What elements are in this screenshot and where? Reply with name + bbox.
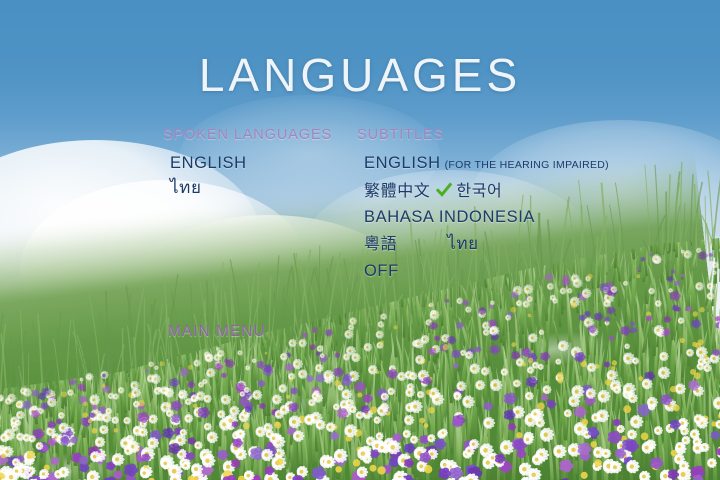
main-menu-button[interactable]: MAIN MENU	[168, 323, 266, 341]
spoken-option-label: ไทย	[163, 178, 202, 198]
subtitle-option-english-hearing-impaired[interactable]: ENGLISH(FOR THE HEARING IMPAIRED)	[357, 155, 609, 182]
spoken-option-thai[interactable]: ไทย	[163, 180, 332, 205]
subtitle-option-label: OFF	[357, 262, 399, 280]
subtitle-option-label: 粵語	[357, 234, 397, 253]
subtitles-heading: SUBTITLES	[357, 127, 609, 143]
check-icon	[436, 182, 452, 203]
spoken-languages-heading: SPOKEN LANGUAGES	[163, 127, 332, 143]
subtitle-option-cantonese-thai[interactable]: 粵語ไทย	[357, 236, 609, 263]
spoken-option-label: ENGLISH	[163, 154, 247, 172]
subtitle-option-hint: (FOR THE HEARING IMPAIRED)	[445, 159, 609, 171]
subtitle-option-label: ENGLISH	[357, 154, 441, 172]
spoken-option-english[interactable]: ENGLISH	[163, 155, 332, 180]
subtitle-option-label: 繁體中文	[357, 181, 430, 200]
subtitle-option-label: BAHASA INDONESIA	[357, 208, 535, 226]
dvd-language-menu-screen: LANGUAGES SPOKEN LANGUAGES ENGLISH ไทย S…	[0, 0, 720, 480]
page-title: LANGUAGES	[0, 48, 720, 102]
subtitle-option-second-label: ไทย	[447, 234, 479, 254]
subtitle-option-off[interactable]: OFF	[357, 263, 609, 290]
subtitles-column: SUBTITLES ENGLISH(FOR THE HEARING IMPAIR…	[357, 127, 609, 290]
spoken-languages-column: SPOKEN LANGUAGES ENGLISH ไทย	[163, 127, 332, 205]
subtitle-option-second-label: 한국어	[456, 181, 502, 200]
subtitle-option-bahasa-indonesia[interactable]: BAHASA INDONESIA	[357, 209, 609, 236]
subtitle-option-traditional-chinese-korean[interactable]: 繁體中文 한국어	[357, 182, 609, 209]
